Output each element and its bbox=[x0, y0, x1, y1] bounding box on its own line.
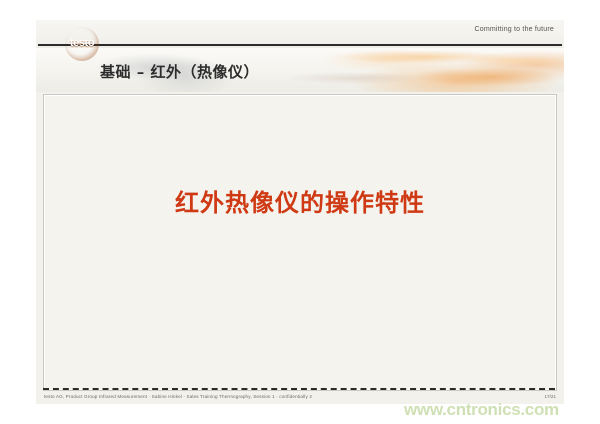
slide-content-panel: 红外热像仪的操作特性 bbox=[43, 94, 557, 391]
slide-headline: 红外热像仪的操作特性 bbox=[44, 183, 556, 218]
slide-title: 基础 – 红外（热像仪） bbox=[100, 61, 259, 82]
decorative-wisp bbox=[336, 50, 516, 64]
decorative-wisp bbox=[466, 56, 564, 66]
company-tagline: Committing to the future bbox=[475, 26, 555, 33]
decorative-wisp bbox=[286, 72, 426, 84]
slide-page-number: 17/21 bbox=[545, 394, 557, 399]
presentation-slide: Committing to the future 基础 – 红外（热像仪） te… bbox=[36, 20, 564, 404]
slide-header-band: Committing to the future bbox=[36, 20, 564, 48]
site-watermark: www.cntronics.com bbox=[404, 400, 559, 420]
decorative-wisp bbox=[416, 68, 564, 86]
header-horizontal-rule bbox=[38, 44, 562, 46]
testo-logo-wordmark: testo bbox=[65, 38, 99, 49]
footer-dashed-rule bbox=[43, 388, 555, 390]
footer-credit-text: testo AG, Product Group Infrared Measure… bbox=[44, 394, 312, 399]
testo-logo: testo bbox=[65, 27, 99, 61]
